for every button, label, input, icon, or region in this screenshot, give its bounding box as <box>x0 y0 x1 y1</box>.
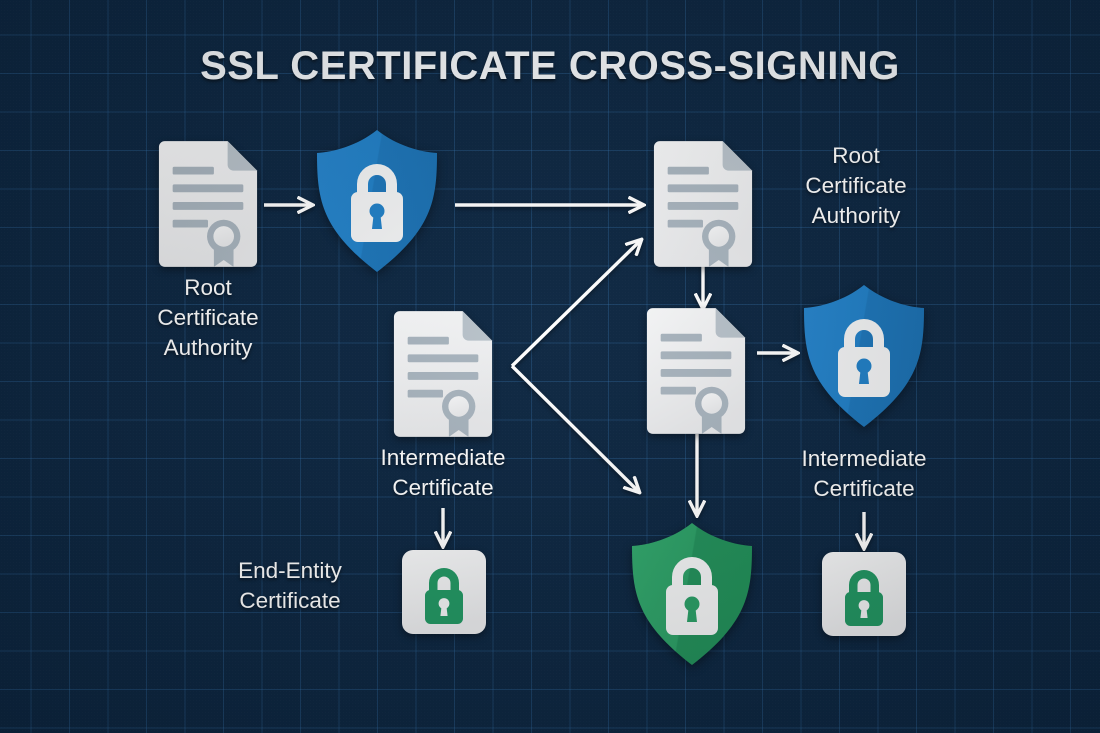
blue-shield-lock-icon <box>313 128 441 274</box>
green-lock-badge-icon <box>401 549 487 635</box>
blue-shield-lock-icon <box>800 283 928 429</box>
certificate-document-icon <box>390 309 496 439</box>
node-end-entity-lock[interactable] <box>401 549 487 635</box>
arrow-fork-up <box>512 240 641 366</box>
node-blue-shield-left[interactable] <box>313 128 441 274</box>
diagram-canvas: SSL CERTIFICATE CROSS-SIGNING <box>0 0 1100 733</box>
node-green-shield-mid[interactable] <box>628 521 756 667</box>
label-root-authority-right: Root Certificate Authority <box>758 141 954 231</box>
node-green-lock-right[interactable] <box>821 551 907 637</box>
node-intermediate-cert-mid[interactable] <box>643 306 749 436</box>
label-root-authority-left: Root Certificate Authority <box>110 273 306 363</box>
certificate-document-icon <box>155 139 261 269</box>
certificate-document-icon <box>650 139 756 269</box>
node-root-cert-right[interactable] <box>650 139 756 269</box>
green-lock-badge-icon <box>821 551 907 637</box>
node-blue-shield-right[interactable] <box>800 283 928 429</box>
node-root-cert-left[interactable] <box>155 139 261 269</box>
green-shield-lock-icon <box>628 521 756 667</box>
label-intermediate-right: Intermediate Certificate <box>766 444 962 504</box>
certificate-document-icon <box>643 306 749 436</box>
label-intermediate-left: Intermediate Certificate <box>345 443 541 503</box>
label-end-entity: End-Entity Certificate <box>185 556 395 616</box>
node-intermediate-cert-left[interactable] <box>390 309 496 439</box>
arrow-layer <box>0 0 1100 733</box>
